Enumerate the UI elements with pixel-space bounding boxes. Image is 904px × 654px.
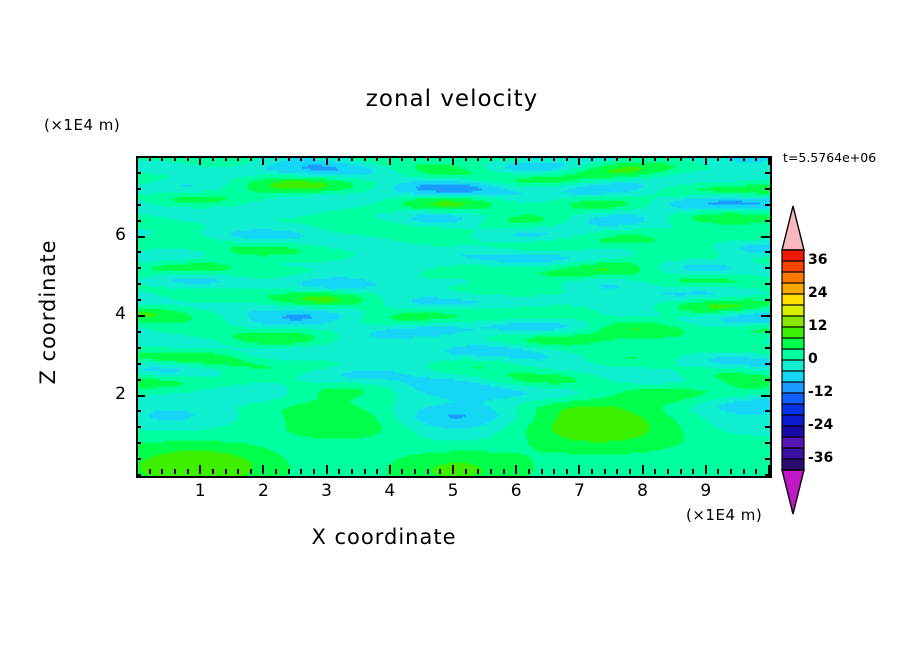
y-tick-right: [765, 410, 770, 412]
x-tick-top: [503, 156, 505, 161]
x-tick: [490, 469, 492, 474]
x-tick: [578, 465, 580, 474]
x-tick-top: [465, 156, 467, 161]
y-tick-right: [765, 379, 770, 381]
y-axis-title: Z coordinate: [36, 202, 60, 422]
x-tick: [313, 469, 315, 474]
x-tick: [591, 469, 593, 474]
y-tick-right: [761, 156, 770, 158]
y-tick: [136, 442, 141, 444]
x-tick-top: [755, 156, 757, 161]
x-tick-top: [654, 156, 656, 161]
x-tick: [768, 465, 770, 474]
x-tick: [161, 469, 163, 474]
x-tick: [667, 469, 669, 474]
contour-plot-area: [136, 156, 772, 478]
x-tick-top: [730, 156, 732, 161]
x-tick-top: [401, 156, 403, 161]
y-tick-right: [765, 331, 770, 333]
x-tick-top: [452, 156, 454, 165]
x-tick: [477, 469, 479, 474]
y-tick-right: [765, 188, 770, 190]
x-tick-top: [199, 156, 201, 165]
colorbar-tick-label: -24: [808, 417, 833, 433]
y-tick: [136, 363, 141, 365]
x-tick: [515, 465, 517, 474]
y-tick: [136, 331, 141, 333]
x-tick: [629, 469, 631, 474]
y-tick: [136, 251, 141, 253]
x-tick: [642, 465, 644, 474]
x-tick-label: 9: [686, 481, 726, 501]
x-tick-top: [275, 156, 277, 161]
x-tick-label: 3: [307, 481, 347, 501]
y-tick: [136, 410, 141, 412]
y-tick-right: [761, 395, 770, 397]
y-tick-right: [761, 315, 770, 317]
x-tick: [616, 469, 618, 474]
y-tick-right: [765, 283, 770, 285]
y-tick: [136, 458, 141, 460]
x-tick: [730, 469, 732, 474]
x-tick: [414, 469, 416, 474]
x-tick-top: [477, 156, 479, 161]
y-tick: [136, 156, 145, 158]
colorbar-tick-label: -36: [808, 450, 833, 466]
x-tick-label: 1: [180, 481, 220, 501]
x-tick-top: [528, 156, 530, 161]
y-tick-label: 4: [96, 304, 126, 324]
x-tick: [364, 469, 366, 474]
x-tick-top: [262, 156, 264, 165]
x-tick: [225, 469, 227, 474]
y-tick-right: [765, 426, 770, 428]
x-tick-top: [313, 156, 315, 161]
x-tick-top: [237, 156, 239, 161]
colorbar-tick-label: -12: [808, 384, 833, 400]
x-tick-top: [414, 156, 416, 161]
x-tick-top: [427, 156, 429, 161]
x-tick: [503, 469, 505, 474]
y-tick-right: [761, 236, 770, 238]
x-tick: [275, 469, 277, 474]
y-tick-right: [765, 458, 770, 460]
x-tick: [149, 469, 151, 474]
x-tick-top: [515, 156, 517, 165]
x-tick: [338, 469, 340, 474]
x-tick: [541, 469, 543, 474]
y-tick-right: [765, 442, 770, 444]
y-tick: [136, 299, 141, 301]
y-tick: [136, 172, 141, 174]
x-tick-top: [578, 156, 580, 165]
x-tick-top: [667, 156, 669, 161]
x-tick-label: 7: [559, 481, 599, 501]
x-tick-top: [439, 156, 441, 161]
y-tick-right: [765, 363, 770, 365]
x-axis-unit-label: (×1E4 m): [686, 506, 762, 524]
x-tick: [174, 469, 176, 474]
x-tick-top: [174, 156, 176, 161]
page-title: zonal velocity: [0, 86, 904, 112]
colorbar-tick-label: 0: [808, 351, 818, 367]
y-tick: [136, 474, 141, 476]
x-tick: [452, 465, 454, 474]
x-tick-top: [717, 156, 719, 161]
timestamp-label: t=5.5764e+06: [783, 150, 876, 165]
x-tick: [692, 469, 694, 474]
colorbar: 3624120-12-24-36: [780, 204, 810, 516]
x-tick: [212, 469, 214, 474]
x-tick-top: [364, 156, 366, 161]
x-tick-top: [326, 156, 328, 165]
y-tick-label: 2: [96, 384, 126, 404]
y-tick-right: [765, 204, 770, 206]
x-tick-label: 8: [623, 481, 663, 501]
x-tick: [376, 469, 378, 474]
x-tick-label: 2: [243, 481, 283, 501]
x-tick-top: [338, 156, 340, 161]
x-tick: [199, 465, 201, 474]
x-tick-top: [351, 156, 353, 161]
x-tick: [136, 465, 138, 474]
x-tick-top: [490, 156, 492, 161]
x-tick: [680, 469, 682, 474]
y-tick: [136, 395, 145, 397]
x-tick: [465, 469, 467, 474]
x-tick-top: [376, 156, 378, 161]
x-tick: [262, 465, 264, 474]
x-tick-top: [149, 156, 151, 161]
x-tick-top: [566, 156, 568, 161]
y-tick-right: [765, 347, 770, 349]
x-tick: [326, 465, 328, 474]
x-tick: [528, 469, 530, 474]
contour-field: [138, 158, 770, 476]
x-tick-top: [680, 156, 682, 161]
y-tick: [136, 204, 141, 206]
colorbar-tick-label: 12: [808, 318, 827, 334]
x-tick: [389, 465, 391, 474]
y-tick: [136, 283, 141, 285]
y-tick: [136, 426, 141, 428]
x-tick: [300, 469, 302, 474]
y-tick-right: [765, 172, 770, 174]
x-tick: [250, 469, 252, 474]
x-tick: [654, 469, 656, 474]
x-tick-label: 5: [433, 481, 473, 501]
x-tick: [743, 469, 745, 474]
y-tick: [136, 236, 145, 238]
x-tick-top: [288, 156, 290, 161]
x-tick: [351, 469, 353, 474]
x-tick-top: [553, 156, 555, 161]
x-tick: [288, 469, 290, 474]
y-tick: [136, 347, 141, 349]
y-tick-right: [765, 474, 770, 476]
y-tick: [136, 220, 141, 222]
x-axis-title: X coordinate: [0, 525, 768, 549]
y-tick-right: [765, 251, 770, 253]
x-tick-top: [642, 156, 644, 165]
colorbar-tick-label: 24: [808, 285, 827, 301]
x-tick-label: 4: [370, 481, 410, 501]
y-tick-right: [765, 267, 770, 269]
x-tick: [187, 469, 189, 474]
x-tick-top: [629, 156, 631, 161]
x-tick: [439, 469, 441, 474]
x-tick: [717, 469, 719, 474]
y-tick-right: [765, 299, 770, 301]
x-tick: [705, 465, 707, 474]
x-tick: [427, 469, 429, 474]
x-tick: [604, 469, 606, 474]
x-tick: [755, 469, 757, 474]
x-tick-top: [300, 156, 302, 161]
x-tick-top: [616, 156, 618, 161]
x-tick-top: [604, 156, 606, 161]
x-tick: [401, 469, 403, 474]
y-tick: [136, 188, 141, 190]
x-tick-top: [187, 156, 189, 161]
y-tick-right: [765, 220, 770, 222]
y-tick: [136, 267, 141, 269]
x-tick-top: [389, 156, 391, 165]
x-tick-top: [743, 156, 745, 161]
colorbar-tick-label: 36: [808, 252, 827, 268]
y-axis-unit-label: (×1E4 m): [44, 116, 120, 134]
y-tick-label: 6: [96, 225, 126, 245]
x-tick: [553, 469, 555, 474]
x-tick-top: [212, 156, 214, 161]
x-tick-top: [225, 156, 227, 161]
colorbar-gradient: [780, 204, 810, 516]
x-tick: [237, 469, 239, 474]
y-tick: [136, 315, 145, 317]
y-tick: [136, 379, 141, 381]
x-tick-top: [705, 156, 707, 165]
x-tick-top: [692, 156, 694, 161]
x-tick-top: [161, 156, 163, 161]
x-tick: [566, 469, 568, 474]
x-tick-top: [541, 156, 543, 161]
x-tick-top: [591, 156, 593, 161]
x-tick-top: [250, 156, 252, 161]
x-tick-label: 6: [496, 481, 536, 501]
